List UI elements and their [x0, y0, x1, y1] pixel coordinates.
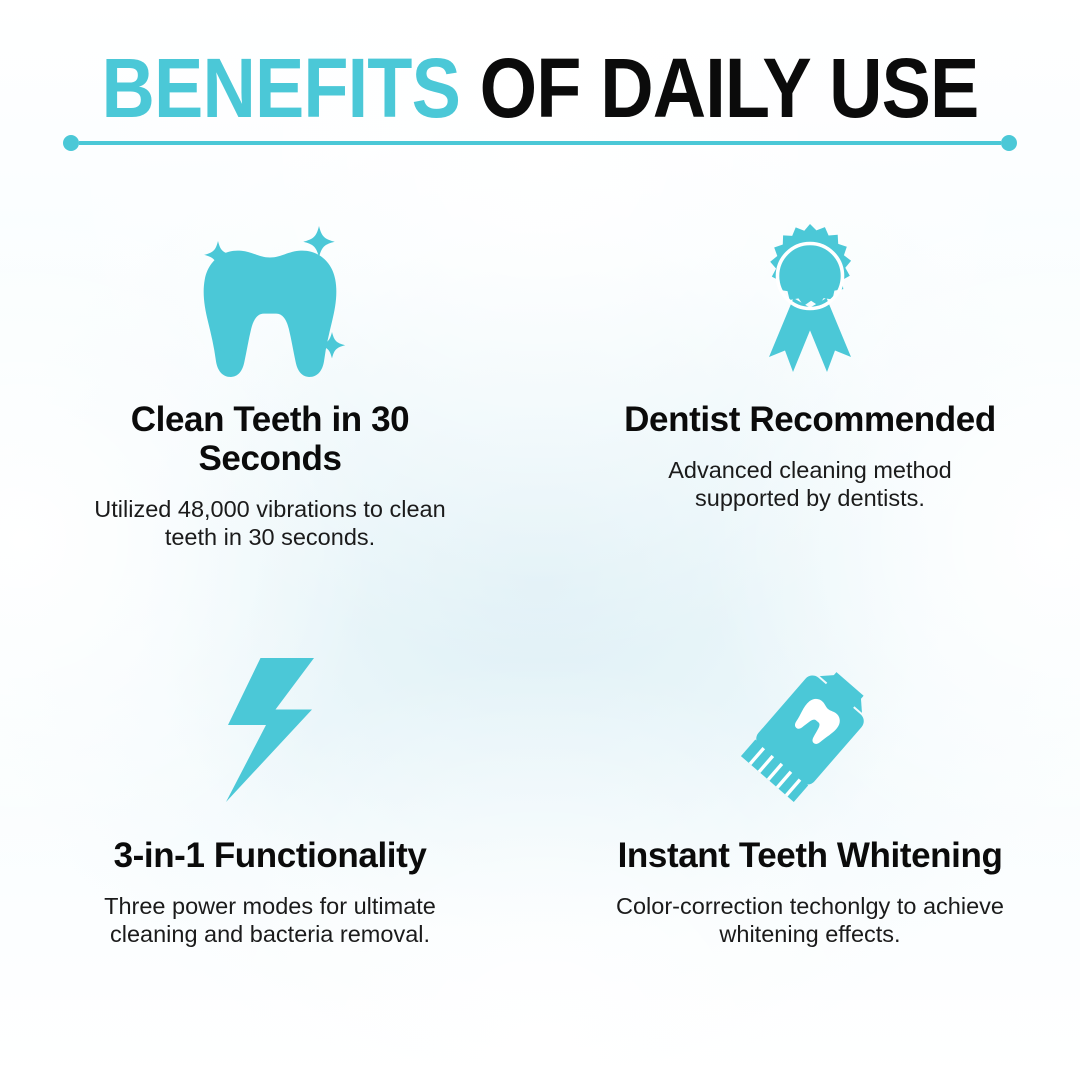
divider-line — [79, 141, 1001, 145]
page-title-accent: BENEFITS — [102, 41, 460, 135]
benefit-description: Three power modes for ultimate cleaning … — [75, 892, 465, 948]
benefit-description: Utilized 48,000 vibrations to clean teet… — [75, 495, 465, 551]
header: BENEFITS OF DAILY USE — [0, 0, 1080, 130]
benefit-title: Instant Teeth Whitening — [618, 836, 1003, 875]
page-title: BENEFITS OF DAILY USE — [65, 0, 1015, 130]
divider-dot-left — [63, 135, 79, 151]
divider-dot-right — [1001, 135, 1017, 151]
benefit-description: Color-correction techonlgy to achieve wh… — [615, 892, 1005, 948]
lightning-bolt-icon — [175, 650, 365, 810]
title-divider — [63, 135, 1017, 151]
benefit-title: Clean Teeth in 30 Seconds — [55, 400, 485, 478]
benefits-infographic: BENEFITS OF DAILY USE — [0, 0, 1080, 1080]
benefit-card-three-in-one: 3-in-1 Functionality Three power modes f… — [0, 626, 540, 1056]
benefit-description: Advanced cleaning method supported by de… — [615, 456, 1005, 512]
benefits-grid: Clean Teeth in 30 Seconds Utilized 48,00… — [0, 196, 1080, 1056]
award-ribbon-icon — [715, 222, 905, 382]
benefit-title: 3-in-1 Functionality — [114, 836, 427, 875]
benefit-card-dentist-recommended: Dentist Recommended Advanced cleaning me… — [540, 196, 1080, 626]
benefit-card-instant-whitening: Instant Teeth Whitening Color-correction… — [540, 626, 1080, 1056]
page-title-rest: OF DAILY USE — [460, 41, 978, 135]
sparkling-tooth-icon — [175, 222, 365, 382]
benefit-title: Dentist Recommended — [624, 400, 996, 439]
toothpaste-tube-icon — [715, 650, 905, 810]
benefit-card-clean-teeth: Clean Teeth in 30 Seconds Utilized 48,00… — [0, 196, 540, 626]
